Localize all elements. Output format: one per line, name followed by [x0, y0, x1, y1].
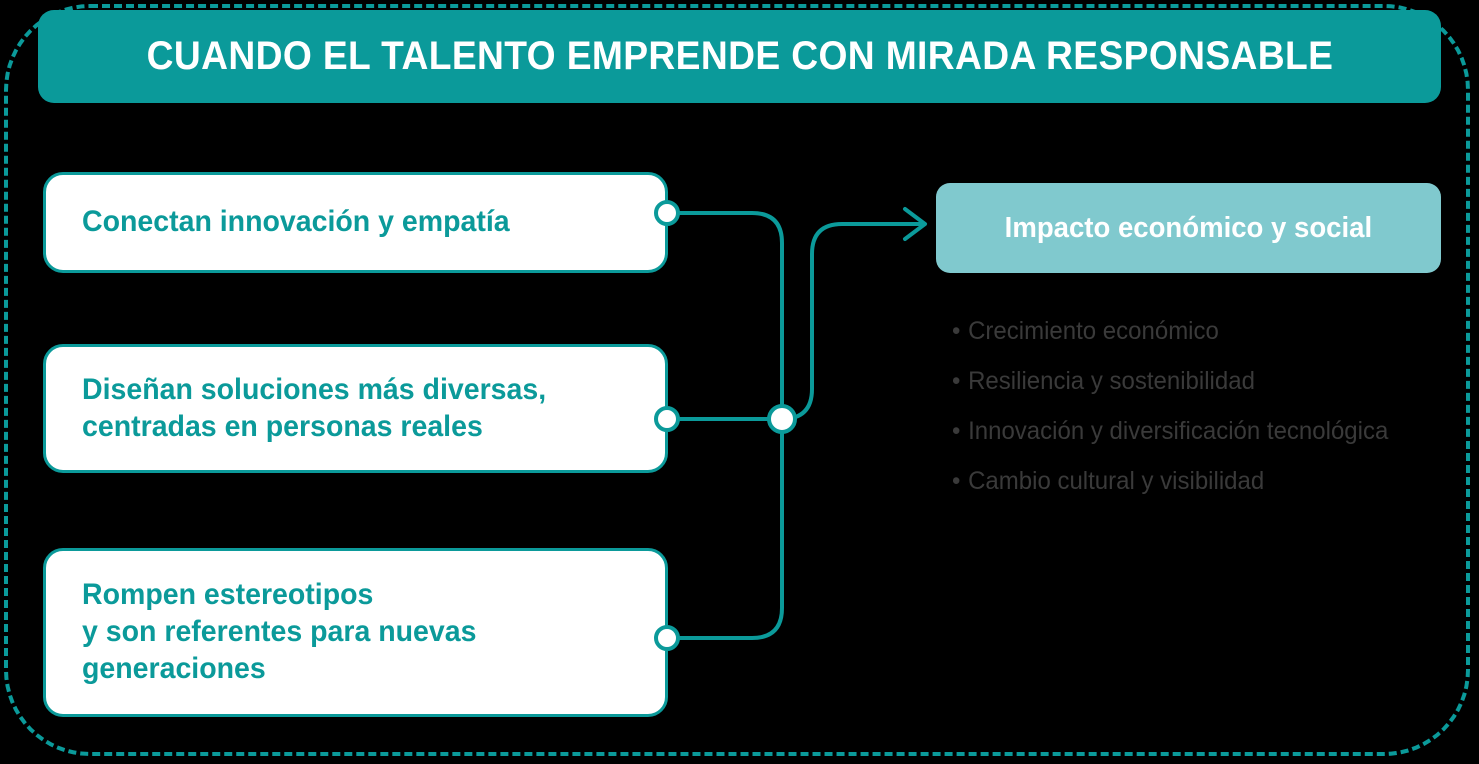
header-banner: CUANDO EL TALENTO EMPRENDE CON MIRADA RE… — [38, 10, 1441, 103]
card-disenan-soluciones[interactable]: Diseñan soluciones más diversas, centrad… — [43, 344, 668, 473]
list-item: •Crecimiento económico — [952, 306, 1451, 356]
diagram-canvas: CUANDO EL TALENTO EMPRENDE CON MIRADA RE… — [0, 0, 1479, 764]
list-item: •Resiliencia y sostenibilidad — [952, 356, 1451, 406]
list-item-label: Innovación y diversificación tecnológica — [968, 417, 1388, 445]
list-item-label: Resiliencia y sostenibilidad — [968, 367, 1255, 395]
list-item-label: Cambio cultural y visibilidad — [968, 467, 1264, 495]
page-title: CUANDO EL TALENTO EMPRENDE CON MIRADA RE… — [146, 34, 1333, 79]
bullet-marker-icon: • — [952, 417, 960, 445]
list-item: •Innovación y diversificación tecnológic… — [952, 406, 1451, 456]
list-item-label: Crecimiento económico — [968, 317, 1219, 345]
bullet-marker-icon: • — [952, 467, 960, 495]
connector-junction-node — [769, 406, 795, 432]
bullet-marker-icon: • — [952, 367, 960, 395]
card-rompen-estereotipos[interactable]: Rompen estereotipos y son referentes par… — [43, 548, 668, 717]
card-conectan-innovacion[interactable]: Conectan innovación y empatía — [43, 172, 668, 273]
list-item: •Cambio cultural y visibilidad — [952, 456, 1451, 506]
connector-path-to-impact — [782, 224, 925, 419]
arrow-head-icon — [905, 209, 925, 239]
connector-path-card3 — [667, 419, 782, 638]
card-label: Conectan innovación y empatía — [82, 204, 510, 241]
impact-bullet-list: •Crecimiento económico •Resiliencia y so… — [952, 306, 1472, 506]
bullet-marker-icon: • — [952, 317, 960, 345]
card-label: Diseñan soluciones más diversas, centrad… — [82, 372, 546, 446]
impact-title: Impacto económico y social — [1005, 212, 1372, 245]
connector-path-card1 — [667, 213, 782, 419]
card-label: Rompen estereotipos y son referentes par… — [82, 577, 476, 688]
impact-box[interactable]: Impacto económico y social — [936, 183, 1441, 273]
